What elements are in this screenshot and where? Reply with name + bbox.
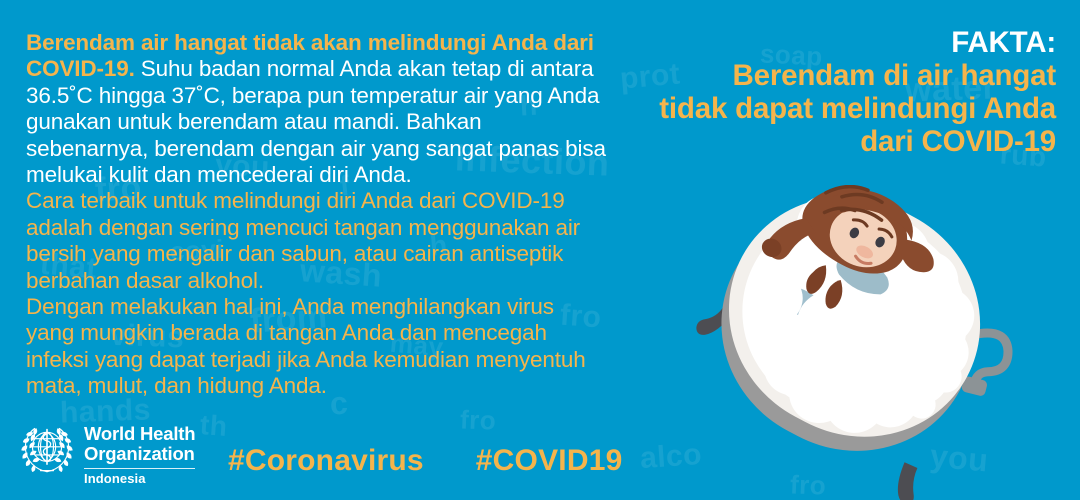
- fact-card: froyoufinfectionthatcoviwashhvirusfromma…: [0, 0, 1080, 500]
- who-wordmark-line-2: Organization: [84, 444, 195, 464]
- body-paragraph-orange-1: Cara terbaik untuk melindungi diri Anda …: [26, 188, 606, 294]
- who-logo: World Health Organization Indonesia: [20, 421, 195, 487]
- who-country-label: Indonesia: [84, 472, 195, 486]
- body-paragraph-primary: Berendam air hangat tidak akan melindung…: [26, 30, 606, 188]
- headline-fakta-label: FAKTA:: [586, 26, 1056, 59]
- watermark-word: th: [199, 409, 229, 443]
- who-emblem-icon: [20, 422, 74, 476]
- woman-in-bathtub-illustration: [655, 185, 1075, 500]
- tub-leg-right: [887, 461, 927, 500]
- hashtag-covid19: #COVID19: [476, 444, 623, 478]
- headline-line-3: dari COVID-19: [586, 125, 1056, 158]
- headline-block: FAKTA: Berendam di air hangat tidak dapa…: [586, 26, 1056, 158]
- who-wordmark: World Health Organization Indonesia: [84, 421, 195, 487]
- who-wordmark-line-1: World Health: [84, 424, 195, 444]
- body-text-block: Berendam air hangat tidak akan melindung…: [26, 30, 606, 400]
- hashtag-coronavirus: #Coronavirus: [228, 444, 424, 478]
- headline-line-1: Berendam di air hangat: [586, 59, 1056, 92]
- body-paragraph-orange-2: Dengan melakukan hal ini, Anda menghilan…: [26, 294, 606, 400]
- who-divider-rule: [84, 468, 195, 470]
- hashtag-row: #Coronavirus #COVID19: [228, 444, 622, 478]
- headline-line-2: tidak dapat melindungi Anda: [586, 92, 1056, 125]
- watermark-word: fro: [459, 404, 496, 436]
